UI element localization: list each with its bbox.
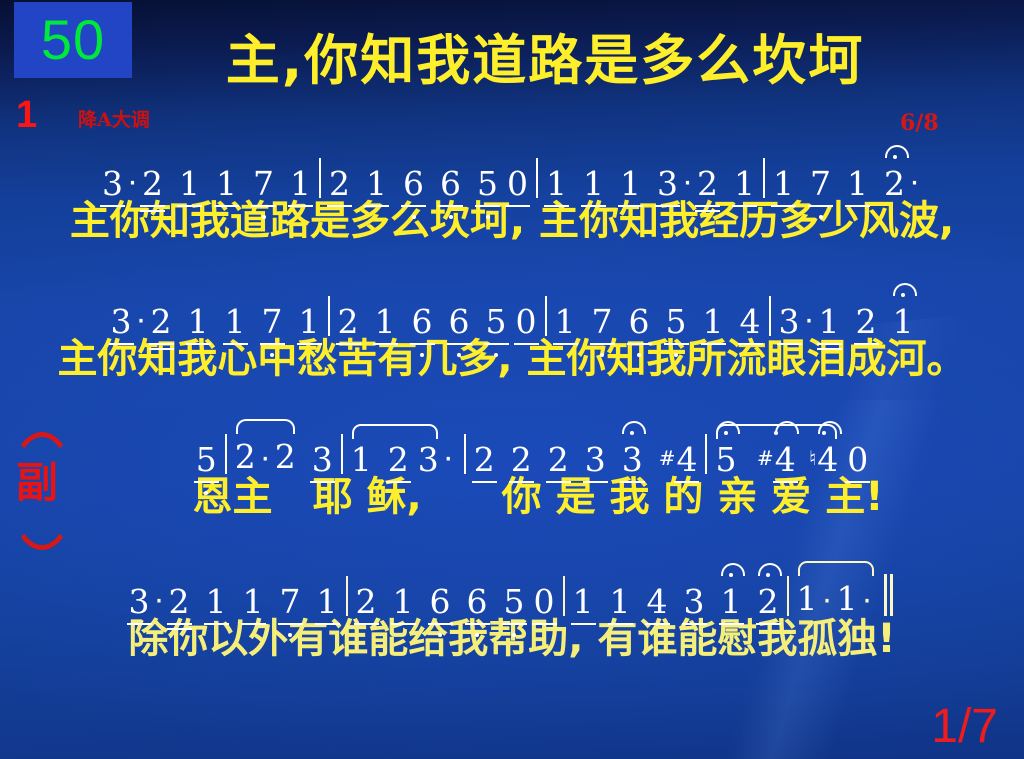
stave-4: 3·2 1 1 7 1 2 1 6 6 5 0 1 1 4 3 1 2 1·1·… <box>0 568 1024 660</box>
stave-2: 3·2 1 1 7 1 2 1 6 6 5 0 1 7 6 5 1 4 3·1 … <box>0 288 1024 380</box>
stave-2-notation: 3·2 1 1 7 1 2 1 6 6 5 0 1 7 6 5 1 4 3·1 … <box>0 288 1024 338</box>
page-indicator: 1/7 <box>931 703 998 751</box>
stave-4-notation: 3·2 1 1 7 1 2 1 6 6 5 0 1 1 4 3 1 2 1·1· <box>0 568 1024 618</box>
page-title: 主,你知我道路是多么坎坷 <box>180 34 910 88</box>
time-signature: 6/8 <box>900 112 939 134</box>
stave-1: 3·2 1 1 7 1 2 1 6 6 5 0 1 1 1 3·2 1 1 7 … <box>0 150 1024 242</box>
verse-number: 1 <box>16 96 37 134</box>
stave-3-notation: 5 2·2 3 123· 2 2 2 3 3 #4 5 #4 ♮4 0 <box>0 426 1024 476</box>
stave-3: 5 2·2 3 123· 2 2 2 3 3 #4 5 #4 ♮4 0 恩主 耶… <box>0 426 1024 518</box>
hymn-number-badge: 50 <box>14 2 132 78</box>
stave-1-notation: 3·2 1 1 7 1 2 1 6 6 5 0 1 1 1 3·2 1 1 7 … <box>0 150 1024 200</box>
slide-canvas: 50 主,你知我道路是多么坎坷 1 降A大调 6/8 1/7 3·2 1 1 7… <box>0 0 1024 759</box>
hymn-number: 50 <box>41 12 105 68</box>
key-signature: 降A大调 <box>78 111 150 130</box>
